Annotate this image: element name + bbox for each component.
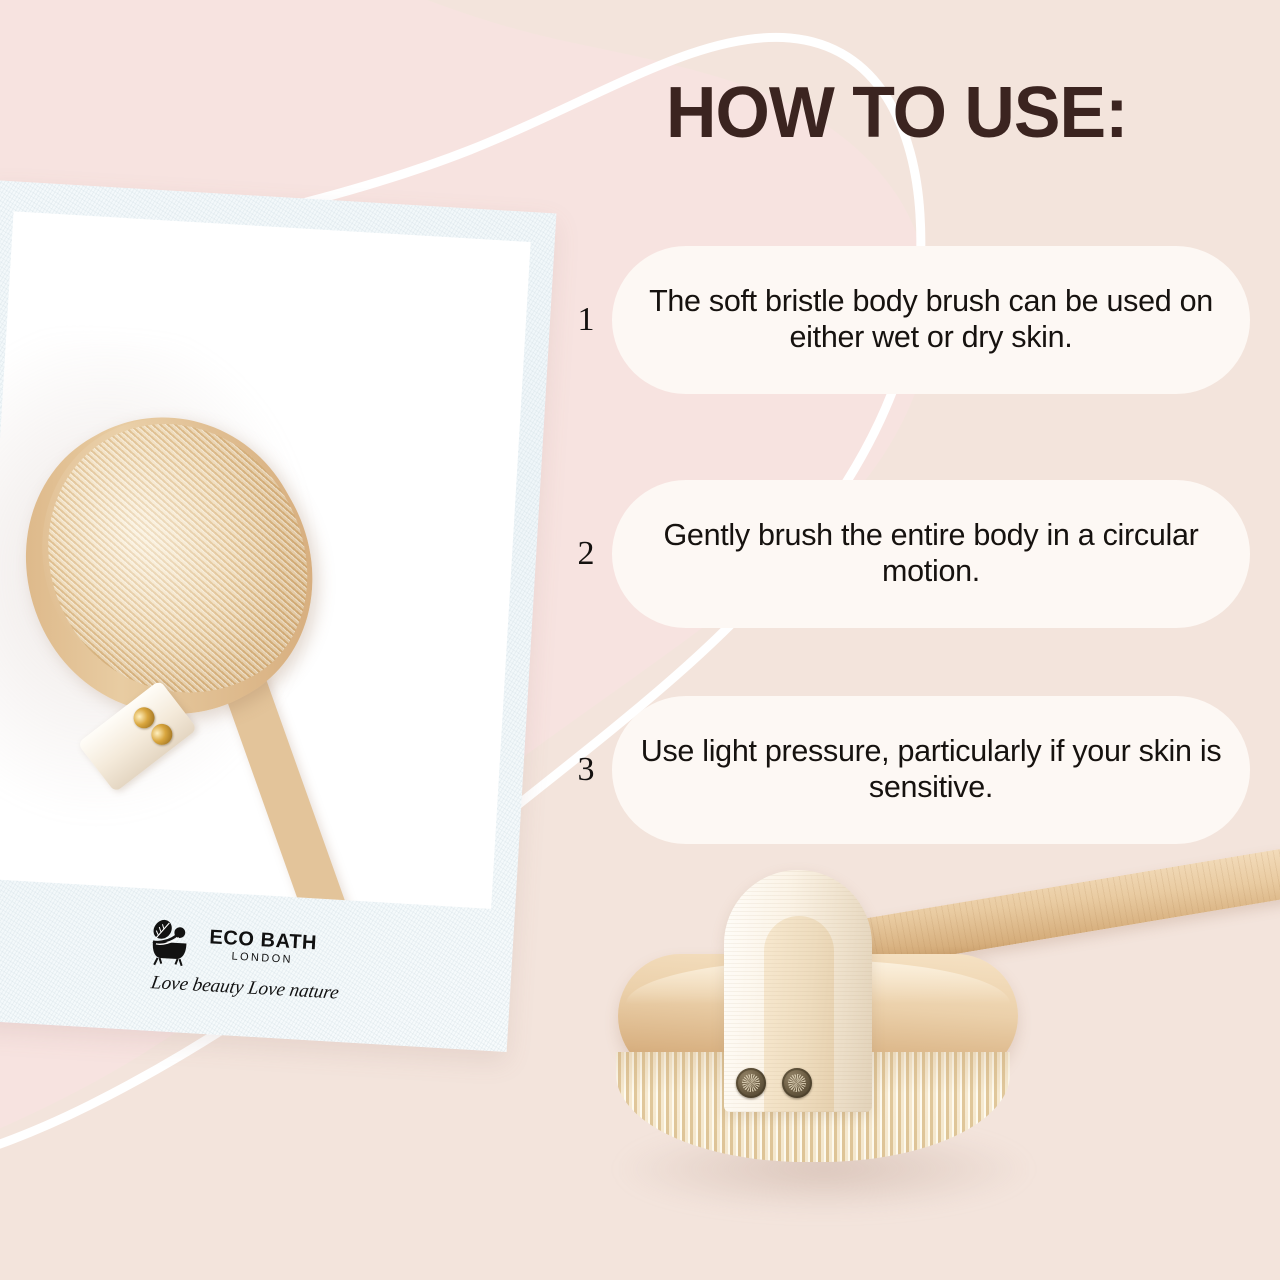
hero-brush-stud-group [736,1068,812,1098]
step-bubble-1[interactable]: The soft bristle body brush can be used … [612,246,1250,394]
brand-location: LONDON [231,952,293,966]
brand-logo-row: ECO BATH LONDON [141,915,318,977]
step-number-2: 2 [560,537,612,571]
step-text-2: Gently brush the entire body in a circul… [638,518,1224,589]
brand-tagline: Love beauty Love nature [149,972,340,1004]
step-number-3: 3 [560,753,612,787]
polaroid-card: ECO BATH LONDON Love beauty Love nature [0,180,556,1052]
hero-body-brush-illustration [600,856,1280,1280]
step-number-1: 1 [560,303,612,337]
step-text-3: Use light pressure, particularly if your… [638,734,1224,805]
brand-name: ECO BATH [209,927,318,953]
brass-stud-icon [736,1068,766,1098]
step-row-3: 3 Use light pressure, particularly if yo… [560,696,1250,844]
brass-stud-icon [782,1068,812,1098]
brand-logo: ECO BATH LONDON Love beauty Love nature [0,904,513,1014]
bathtub-leaf-icon [141,915,202,970]
infographic-canvas: HOW TO USE: 1 The soft bristle body brus… [0,0,1280,1280]
step-row-2: 2 Gently brush the entire body in a circ… [560,480,1250,628]
step-bubble-2[interactable]: Gently brush the entire body in a circul… [612,480,1250,628]
product-photo [0,211,531,909]
step-bubble-3[interactable]: Use light pressure, particularly if your… [612,696,1250,844]
step-row-1: 1 The soft bristle body brush can be use… [560,246,1250,394]
brand-wordmark: ECO BATH LONDON [208,927,317,967]
step-text-1: The soft bristle body brush can be used … [638,284,1224,355]
page-title: HOW TO USE: [666,72,1127,154]
